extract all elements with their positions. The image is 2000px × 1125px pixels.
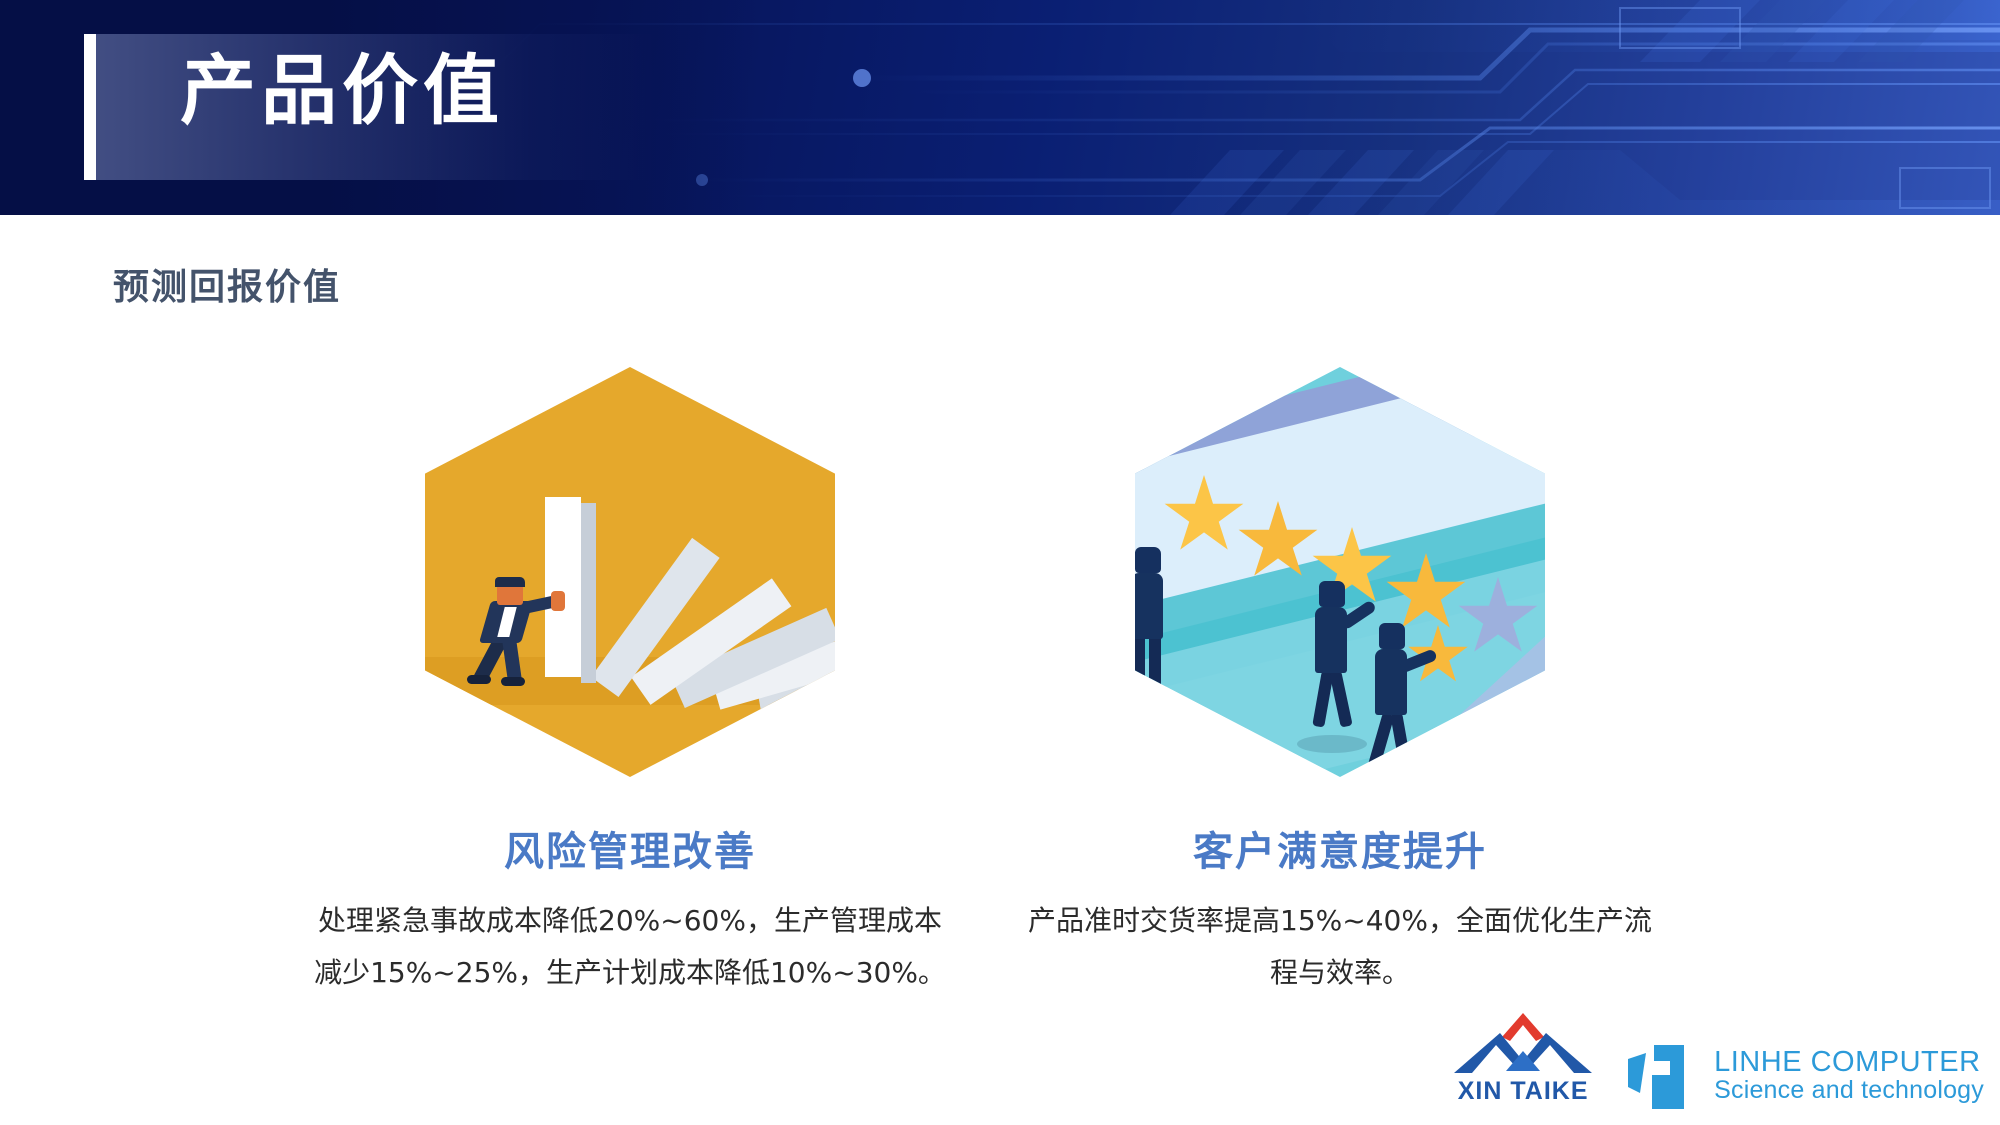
domino-stop-hexagon-icon xyxy=(425,367,835,777)
hand xyxy=(551,591,565,611)
slide-header: 产品价值 xyxy=(0,0,2000,215)
torso xyxy=(1135,573,1163,639)
leg-b xyxy=(1149,635,1161,691)
leg-a xyxy=(1135,635,1145,691)
shadow xyxy=(1297,735,1367,753)
hexagon-illustration-wrapper xyxy=(1135,345,1545,805)
slide-root: 产品价值 预测回报价值 xyxy=(0,0,2000,1125)
shoe-front xyxy=(501,677,525,686)
footer-logos: XIN TAIKE LINHE COMPUTER Science and tec… xyxy=(1448,1011,1984,1115)
card-body-customer-satisfaction: 产品准时交货率提高15%~40%，全面优化生产流程与效率。 xyxy=(1020,895,1660,999)
card-title-customer-satisfaction: 客户满意度提升 xyxy=(910,819,1770,877)
five-star-rating-hexagon-icon xyxy=(1135,367,1545,777)
value-card-customer-satisfaction: 客户满意度提升 产品准时交货率提高15%~40%，全面优化生产流程与效率。 xyxy=(910,345,1770,999)
head xyxy=(1135,547,1161,573)
businessman-figure xyxy=(479,581,559,681)
card-body-risk-management: 处理紧急事故成本降低20%~60%，生产管理成本减少15%~25%，生产计划成本… xyxy=(310,895,950,999)
value-cards-container: 风险管理改善 处理紧急事故成本降低20%~60%，生产管理成本减少15%~25%… xyxy=(0,345,2000,1045)
shoe-back xyxy=(467,675,491,684)
torso xyxy=(1375,649,1407,715)
header-accent-bar xyxy=(84,34,96,180)
shadow xyxy=(1135,697,1181,715)
logo-linhe-line1: LINHE COMPUTER xyxy=(1714,1047,1984,1077)
logo-linhe-text-block: LINHE COMPUTER Science and technology xyxy=(1714,1047,1984,1105)
mountain-peak-icon xyxy=(1448,1011,1598,1077)
logo-linhe: LINHE COMPUTER Science and technology xyxy=(1624,1037,1984,1115)
page-title: 产品价值 xyxy=(180,40,504,143)
logo-linhe-line2: Science and technology xyxy=(1714,1077,1984,1105)
logo-xin-taike: XIN TAIKE xyxy=(1448,1011,1598,1115)
logo-xin-taike-text: XIN TAIKE xyxy=(1448,1077,1598,1106)
head xyxy=(1319,581,1345,607)
hexagon-illustration-wrapper xyxy=(425,345,835,805)
hair xyxy=(495,577,525,587)
section-subtitle: 预测回报价值 xyxy=(113,258,341,310)
head xyxy=(1379,623,1405,649)
linhe-monogram-icon xyxy=(1624,1037,1702,1115)
